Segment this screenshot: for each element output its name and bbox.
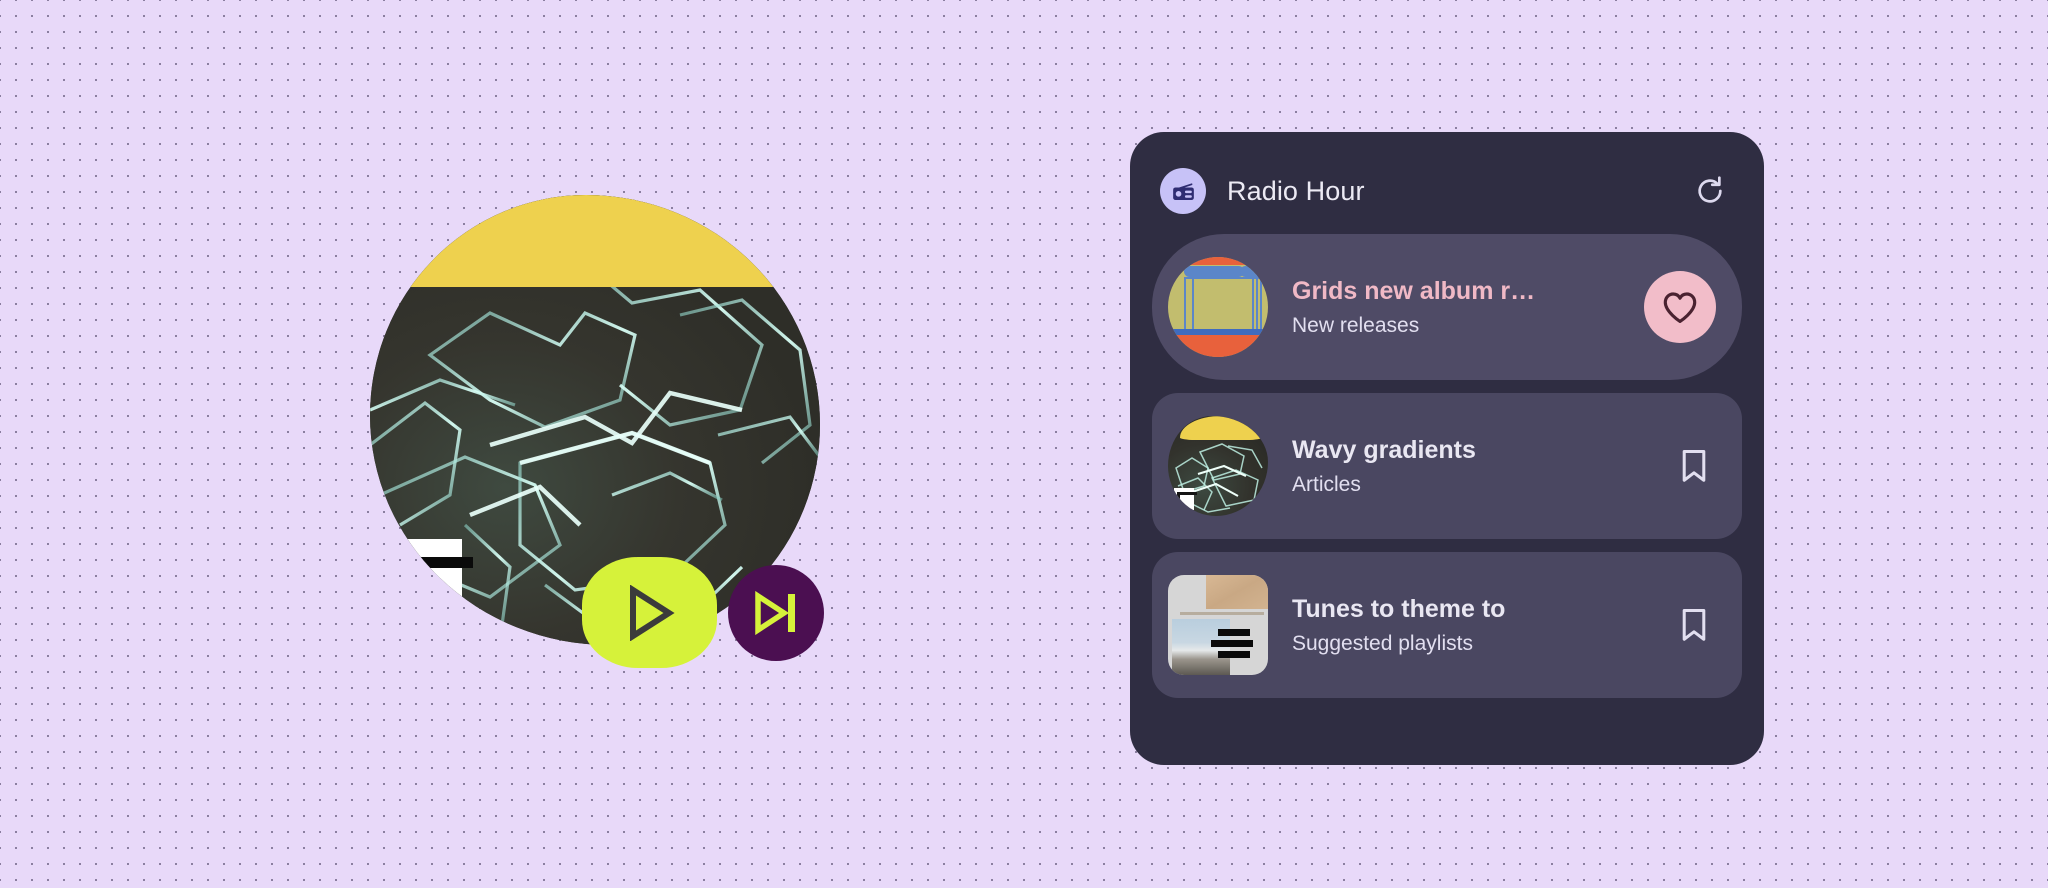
next-track-button[interactable] [728, 565, 824, 661]
tunes-collage-thumbnail [1168, 575, 1268, 675]
album-art-yellow-cap [370, 195, 820, 287]
bookmark-icon [1679, 607, 1709, 643]
radio-hour-widget: Radio Hour Grids new album r… N [1130, 132, 1764, 765]
list-item-title: Tunes to theme to [1292, 593, 1672, 626]
list-item[interactable]: Grids new album r… New releases [1152, 234, 1742, 380]
list-item-text: Tunes to theme to Suggested playlists [1292, 593, 1672, 658]
heart-icon [1662, 291, 1698, 324]
list-item[interactable]: Wavy gradients Articles [1152, 393, 1742, 539]
play-triangle-icon [624, 585, 676, 641]
list-item[interactable]: Tunes to theme to Suggested playlists [1152, 552, 1742, 698]
list-item-text: Grids new album r… New releases [1292, 275, 1644, 340]
widget-header: Radio Hour [1152, 154, 1742, 228]
list-item-title: Grids new album r… [1292, 275, 1644, 308]
like-button[interactable] [1644, 271, 1716, 343]
bookmark-icon [1679, 448, 1709, 484]
album-art-white-square [376, 539, 462, 631]
list-item-subtitle: Suggested playlists [1292, 630, 1672, 657]
radio-item-list: Grids new album r… New releases [1152, 234, 1742, 698]
list-item-title: Wavy gradients [1292, 434, 1672, 467]
refresh-icon [1693, 174, 1727, 208]
media-player-stage [370, 195, 830, 695]
bookmark-button[interactable] [1672, 444, 1716, 488]
wavy-gradients-thumbnail [1168, 416, 1268, 516]
list-item-subtitle: New releases [1292, 312, 1644, 339]
list-item-subtitle: Articles [1292, 471, 1672, 498]
grids-album-thumbnail [1168, 257, 1268, 357]
radio-glyph [1170, 178, 1197, 205]
refresh-button[interactable] [1690, 171, 1730, 211]
widget-title: Radio Hour [1227, 176, 1365, 207]
radio-icon [1160, 168, 1206, 214]
bookmark-button[interactable] [1672, 603, 1716, 647]
skip-next-icon [752, 591, 800, 635]
list-item-text: Wavy gradients Articles [1292, 434, 1672, 499]
play-button[interactable] [582, 557, 717, 668]
